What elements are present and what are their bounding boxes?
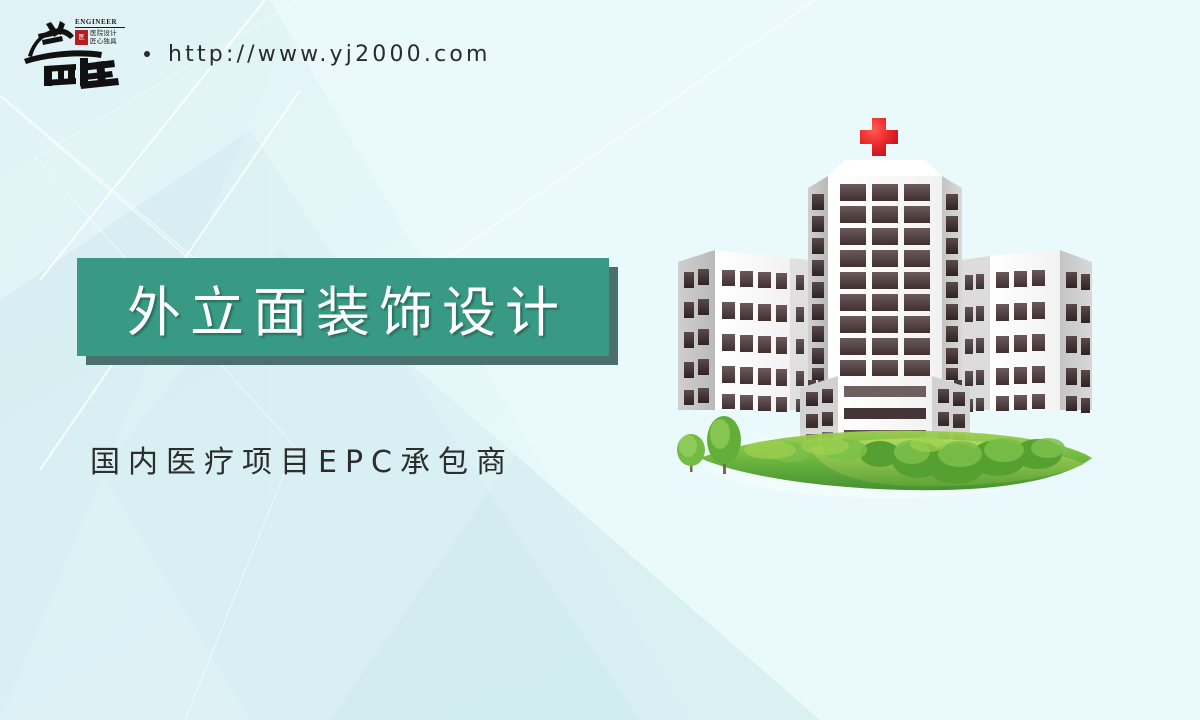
logo-subtext: ENGINEER 医 医院设计 匠心独具 <box>75 18 127 45</box>
tree-left-small <box>677 434 705 472</box>
logo-engineer-label: ENGINEER <box>75 18 117 26</box>
title-banner-body: 外立面装饰设计 <box>77 258 609 356</box>
logo-tagline-line2: 匠心独具 <box>90 38 117 46</box>
header: ENGINEER 医 医院设计 匠心独具 http://www.yj2000.c… <box>18 12 491 90</box>
page-subtitle: 国内医疗项目EPC承包商 <box>90 437 514 481</box>
central-tower <box>808 160 962 380</box>
red-cross-icon <box>860 118 898 156</box>
brand-logo[interactable]: ENGINEER 医 医院设计 匠心独具 <box>18 12 128 90</box>
website-url-text: http://www.yj2000.com <box>168 42 491 67</box>
slide-canvas: ENGINEER 医 医院设计 匠心独具 http://www.yj2000.c… <box>0 0 1200 720</box>
hospital-building-illustration <box>660 110 1110 510</box>
website-url-block[interactable]: http://www.yj2000.com <box>144 42 491 67</box>
title-banner: 外立面装饰设计 <box>77 258 617 362</box>
bullet-dot-icon <box>144 51 150 57</box>
logo-divider <box>75 27 125 28</box>
logo-seal-icon: 医 <box>75 30 88 45</box>
page-title: 外立面装饰设计 <box>118 268 568 347</box>
